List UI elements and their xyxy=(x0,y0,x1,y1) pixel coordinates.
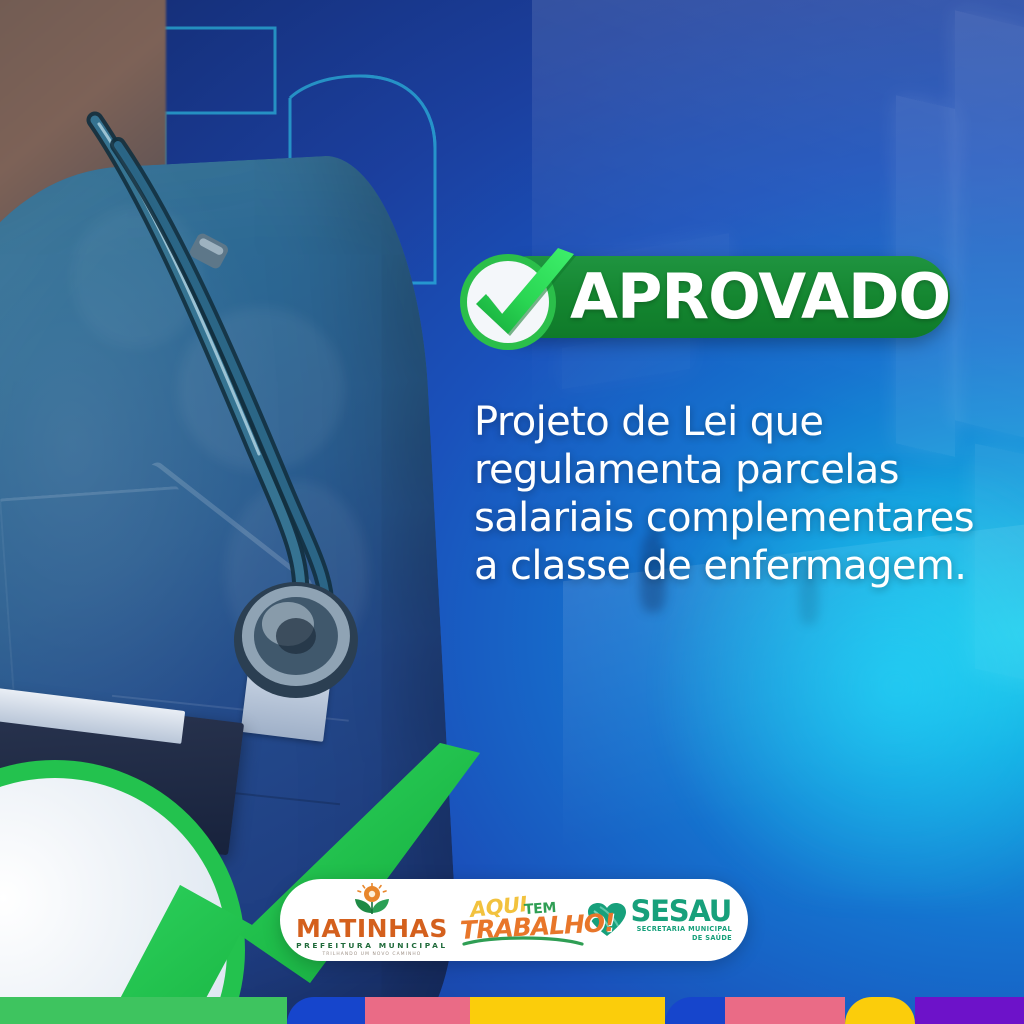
strip-segment xyxy=(665,997,725,1024)
matinhas-tagline: TRILHANDO UM NOVO CAMINHO xyxy=(323,951,422,958)
headline-text: Projeto de Lei que regulamenta parcelas … xyxy=(474,398,984,590)
logo-bar: MATINHAS PREFEITURA MUNICIPAL TRILHANDO … xyxy=(280,879,748,961)
sun-leaves-emblem-icon xyxy=(349,883,395,915)
strip-segment xyxy=(845,997,915,1024)
corridor-window xyxy=(955,11,1024,440)
poster-canvas: APROVADO Projeto de Lei que regulamenta … xyxy=(0,0,1024,1024)
matinhas-subtitle: PREFEITURA MUNICIPAL xyxy=(296,941,448,951)
strip-segment xyxy=(470,997,665,1024)
matinhas-name: MATINHAS xyxy=(296,916,448,941)
strip-segment xyxy=(0,997,287,1024)
headline-line-1: Projeto de Lei que xyxy=(474,398,984,446)
headline-line-2: regulamenta parcelas xyxy=(474,446,984,494)
headline-line-3: salariais complementares xyxy=(474,494,984,542)
strip-segment xyxy=(287,997,365,1024)
bottom-color-strip xyxy=(0,997,1024,1024)
swoosh-icon xyxy=(462,935,584,948)
logo-matinhas: MATINHAS PREFEITURA MUNICIPAL TRILHANDO … xyxy=(296,883,448,958)
aprovado-label: APROVADO xyxy=(570,259,950,335)
aprovado-badge: APROVADO xyxy=(452,246,952,352)
logo-aqui-tem-trabalho: AQUI TEM TRABALHO! xyxy=(462,891,574,949)
check-circle-icon xyxy=(452,246,584,352)
stethoscope-chestpiece xyxy=(234,582,358,698)
strip-segment xyxy=(915,997,1024,1024)
sesau-name: SESAU xyxy=(630,897,732,925)
headline-line-4: a classe de enfermagem. xyxy=(474,542,984,590)
strip-segment xyxy=(725,997,845,1024)
strip-segment xyxy=(365,997,470,1024)
sesau-subtitle: SECRETARIA MUNICIPAL DE SAÚDE xyxy=(630,925,732,943)
